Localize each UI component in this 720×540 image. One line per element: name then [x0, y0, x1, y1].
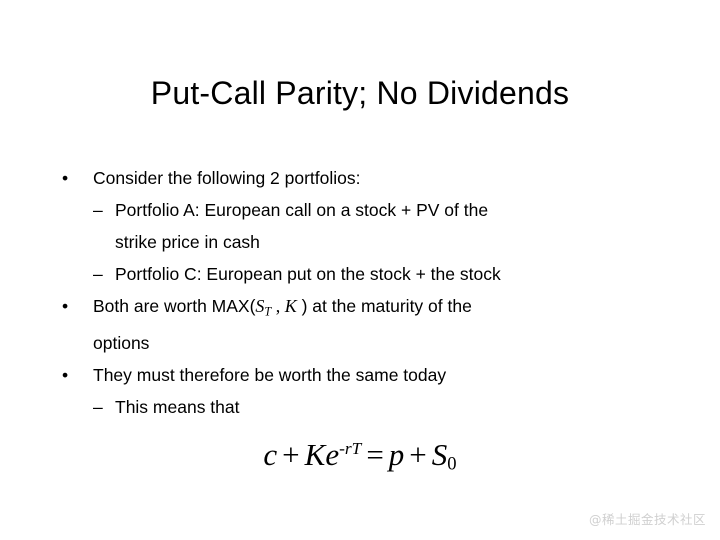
- list-item-label: They must therefore be worth the same to…: [93, 365, 446, 385]
- slide-canvas: Put-Call Parity; No Dividends • Consider…: [0, 0, 720, 540]
- list-item: – Portfolio A: European call on a stock …: [56, 194, 686, 226]
- bullet-dash-icon: –: [93, 258, 103, 290]
- put-call-parity-equation: c+Ke-rT=p+S0: [0, 428, 720, 486]
- list-item-label-prefix: Both are worth MAX(: [93, 296, 255, 316]
- math-comma: ,: [271, 296, 285, 316]
- watermark: @稀土掘金技术社区: [589, 512, 706, 528]
- list-item-label: Portfolio C: European put on the stock +…: [115, 264, 501, 284]
- equation-subscript-zero: 0: [447, 454, 456, 475]
- list-item-label-suffix: ) at the maturity of the: [297, 296, 472, 316]
- list-item: • They must therefore be worth the same …: [56, 359, 686, 391]
- list-item: – This means that: [56, 391, 686, 423]
- bullet-list: • Consider the following 2 portfolios: –…: [56, 162, 686, 423]
- math-variable-k: K: [285, 296, 297, 316]
- bullet-dot-icon: •: [62, 359, 68, 391]
- equation-operator-plus-2: +: [404, 437, 431, 472]
- bullet-dot-icon: •: [62, 290, 68, 322]
- list-item-label: options: [93, 333, 149, 353]
- list-item-label: Portfolio A: European call on a stock + …: [115, 200, 488, 220]
- equation-operator-plus: +: [277, 437, 304, 472]
- equation-term-s: S: [432, 437, 448, 472]
- equation-term-k: K: [305, 437, 326, 472]
- list-item: • Both are worth MAX(ST , K ) at the mat…: [56, 290, 686, 327]
- bullet-dash-icon: –: [93, 391, 103, 423]
- equation-operator-equals: =: [361, 437, 388, 472]
- list-item: – Portfolio C: European put on the stock…: [56, 258, 686, 290]
- bullet-dash-icon: –: [93, 194, 103, 226]
- bullet-dot-icon: •: [62, 162, 68, 194]
- page-title: Put-Call Parity; No Dividends: [0, 74, 720, 112]
- list-item-label: This means that: [115, 397, 240, 417]
- equation-term-c: c: [263, 437, 277, 472]
- list-item-continuation: strike price in cash: [56, 226, 686, 258]
- equation-term-e: e: [325, 437, 339, 472]
- equation-term-p: p: [389, 437, 405, 472]
- equation-exponent: -rT: [339, 439, 361, 458]
- list-item-label: strike price in cash: [115, 232, 260, 252]
- math-variable-s: ST: [255, 296, 271, 316]
- list-item-continuation: options: [56, 327, 686, 359]
- list-item: • Consider the following 2 portfolios:: [56, 162, 686, 194]
- list-item-label: Consider the following 2 portfolios:: [93, 168, 361, 188]
